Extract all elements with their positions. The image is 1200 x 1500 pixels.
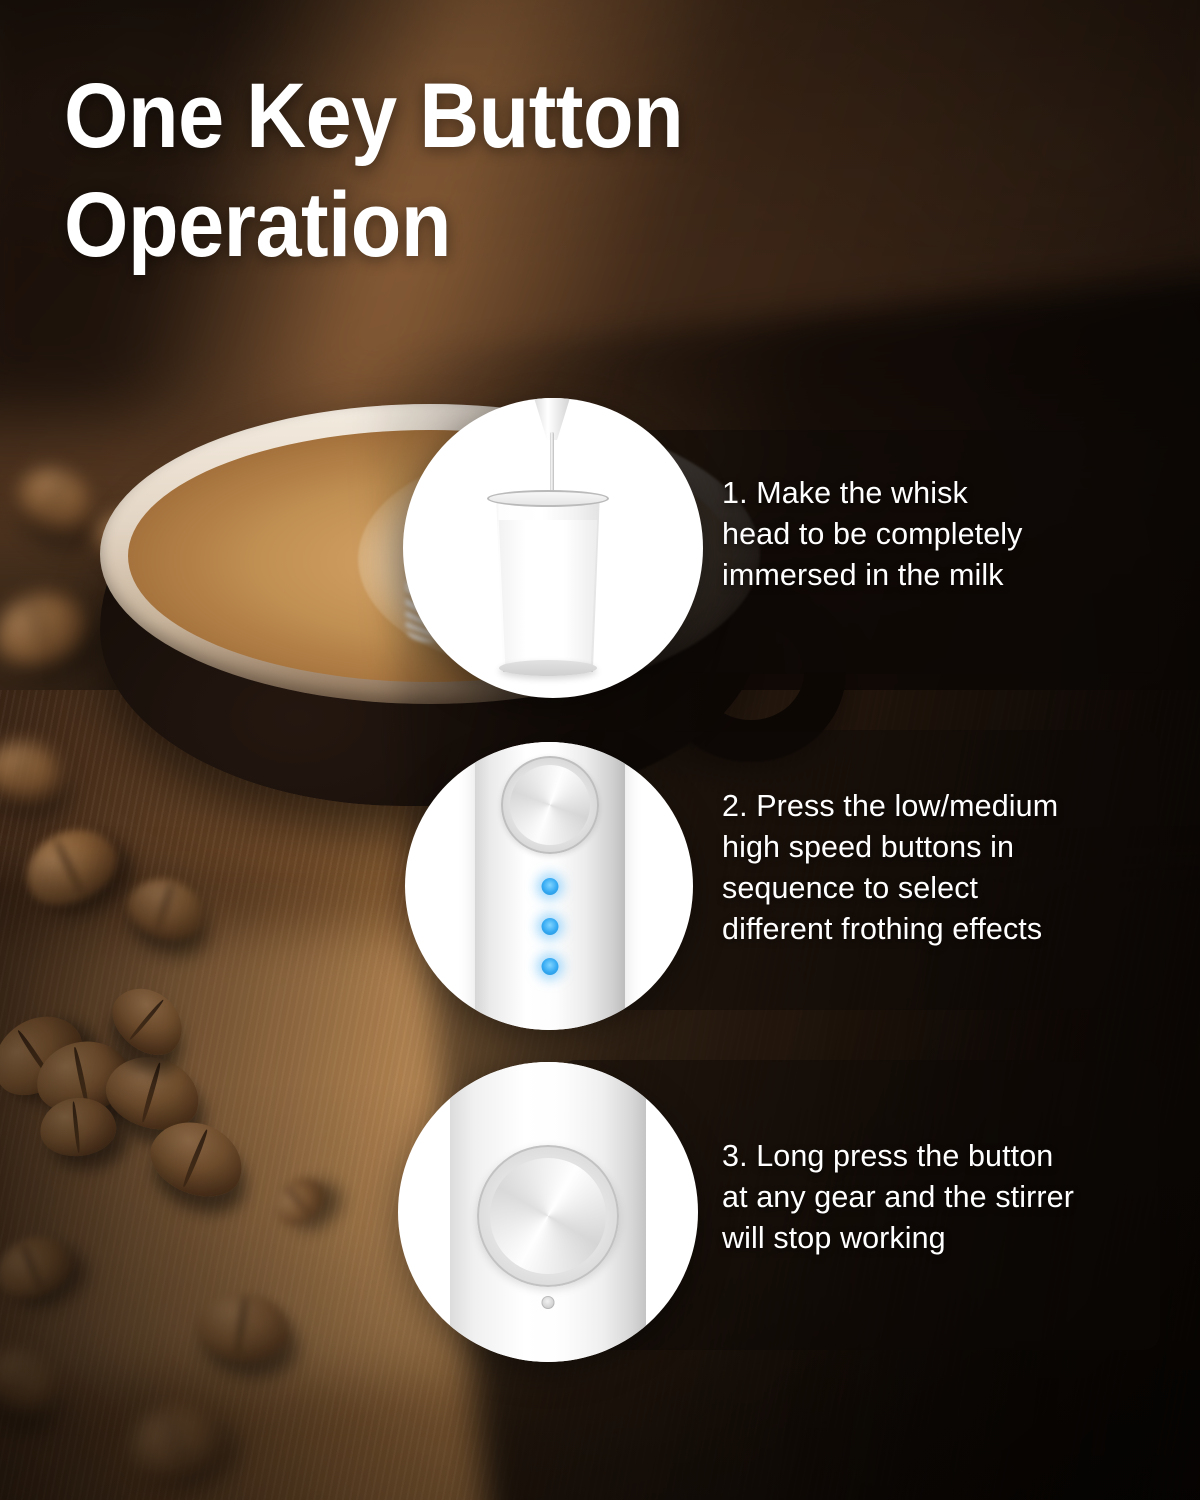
step-1-illustration — [403, 398, 703, 698]
bottom-vent-dot-icon — [542, 1296, 555, 1309]
milk-fill — [492, 520, 604, 670]
step-1-text: 1. Make the whisk head to be completely … — [722, 473, 1152, 596]
page-title: One Key Button Operation — [64, 62, 874, 279]
step-3-illustration — [398, 1062, 698, 1362]
step-2-text: 2. Press the low/medium high speed butto… — [722, 786, 1162, 950]
high-speed-led — [542, 958, 559, 975]
infographic-canvas: One Key Button Operation 1. Make the whi… — [0, 0, 1200, 1500]
power-button-icon — [501, 756, 599, 854]
glass-base — [499, 660, 597, 676]
frother-body-closeup — [450, 1062, 646, 1362]
low-speed-led — [542, 878, 559, 895]
frother-body — [475, 742, 625, 1030]
step-2-illustration — [405, 742, 693, 1030]
power-button-large-icon — [477, 1145, 619, 1287]
step-3-text: 3. Long press the button at any gear and… — [722, 1136, 1152, 1259]
medium-speed-led — [542, 918, 559, 935]
glass-rim — [487, 490, 609, 507]
